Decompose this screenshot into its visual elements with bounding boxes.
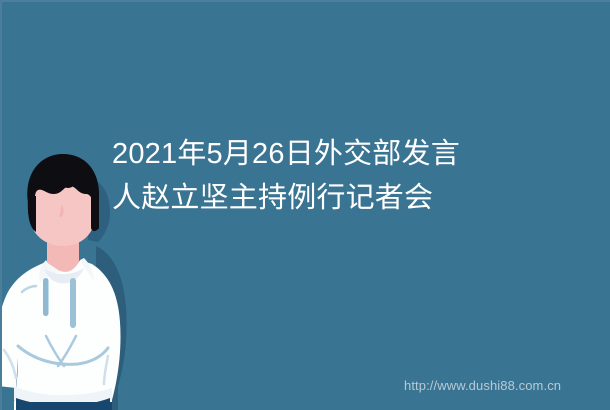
drawstring-left [43,278,49,316]
hair-side-left [28,196,36,232]
hair-side-right [91,196,99,231]
site-watermark: http://www.dushi88.com.cn [404,378,561,393]
page-title: 2021年5月26日外交部发言 人赵立坚主持例行记者会 [112,132,532,220]
cover-image-canvas: 2021年5月26日外交部发言 人赵立坚主持例行记者会 http://www.d… [0,0,610,410]
pants-block [16,402,112,410]
drawstring-right [70,278,76,328]
